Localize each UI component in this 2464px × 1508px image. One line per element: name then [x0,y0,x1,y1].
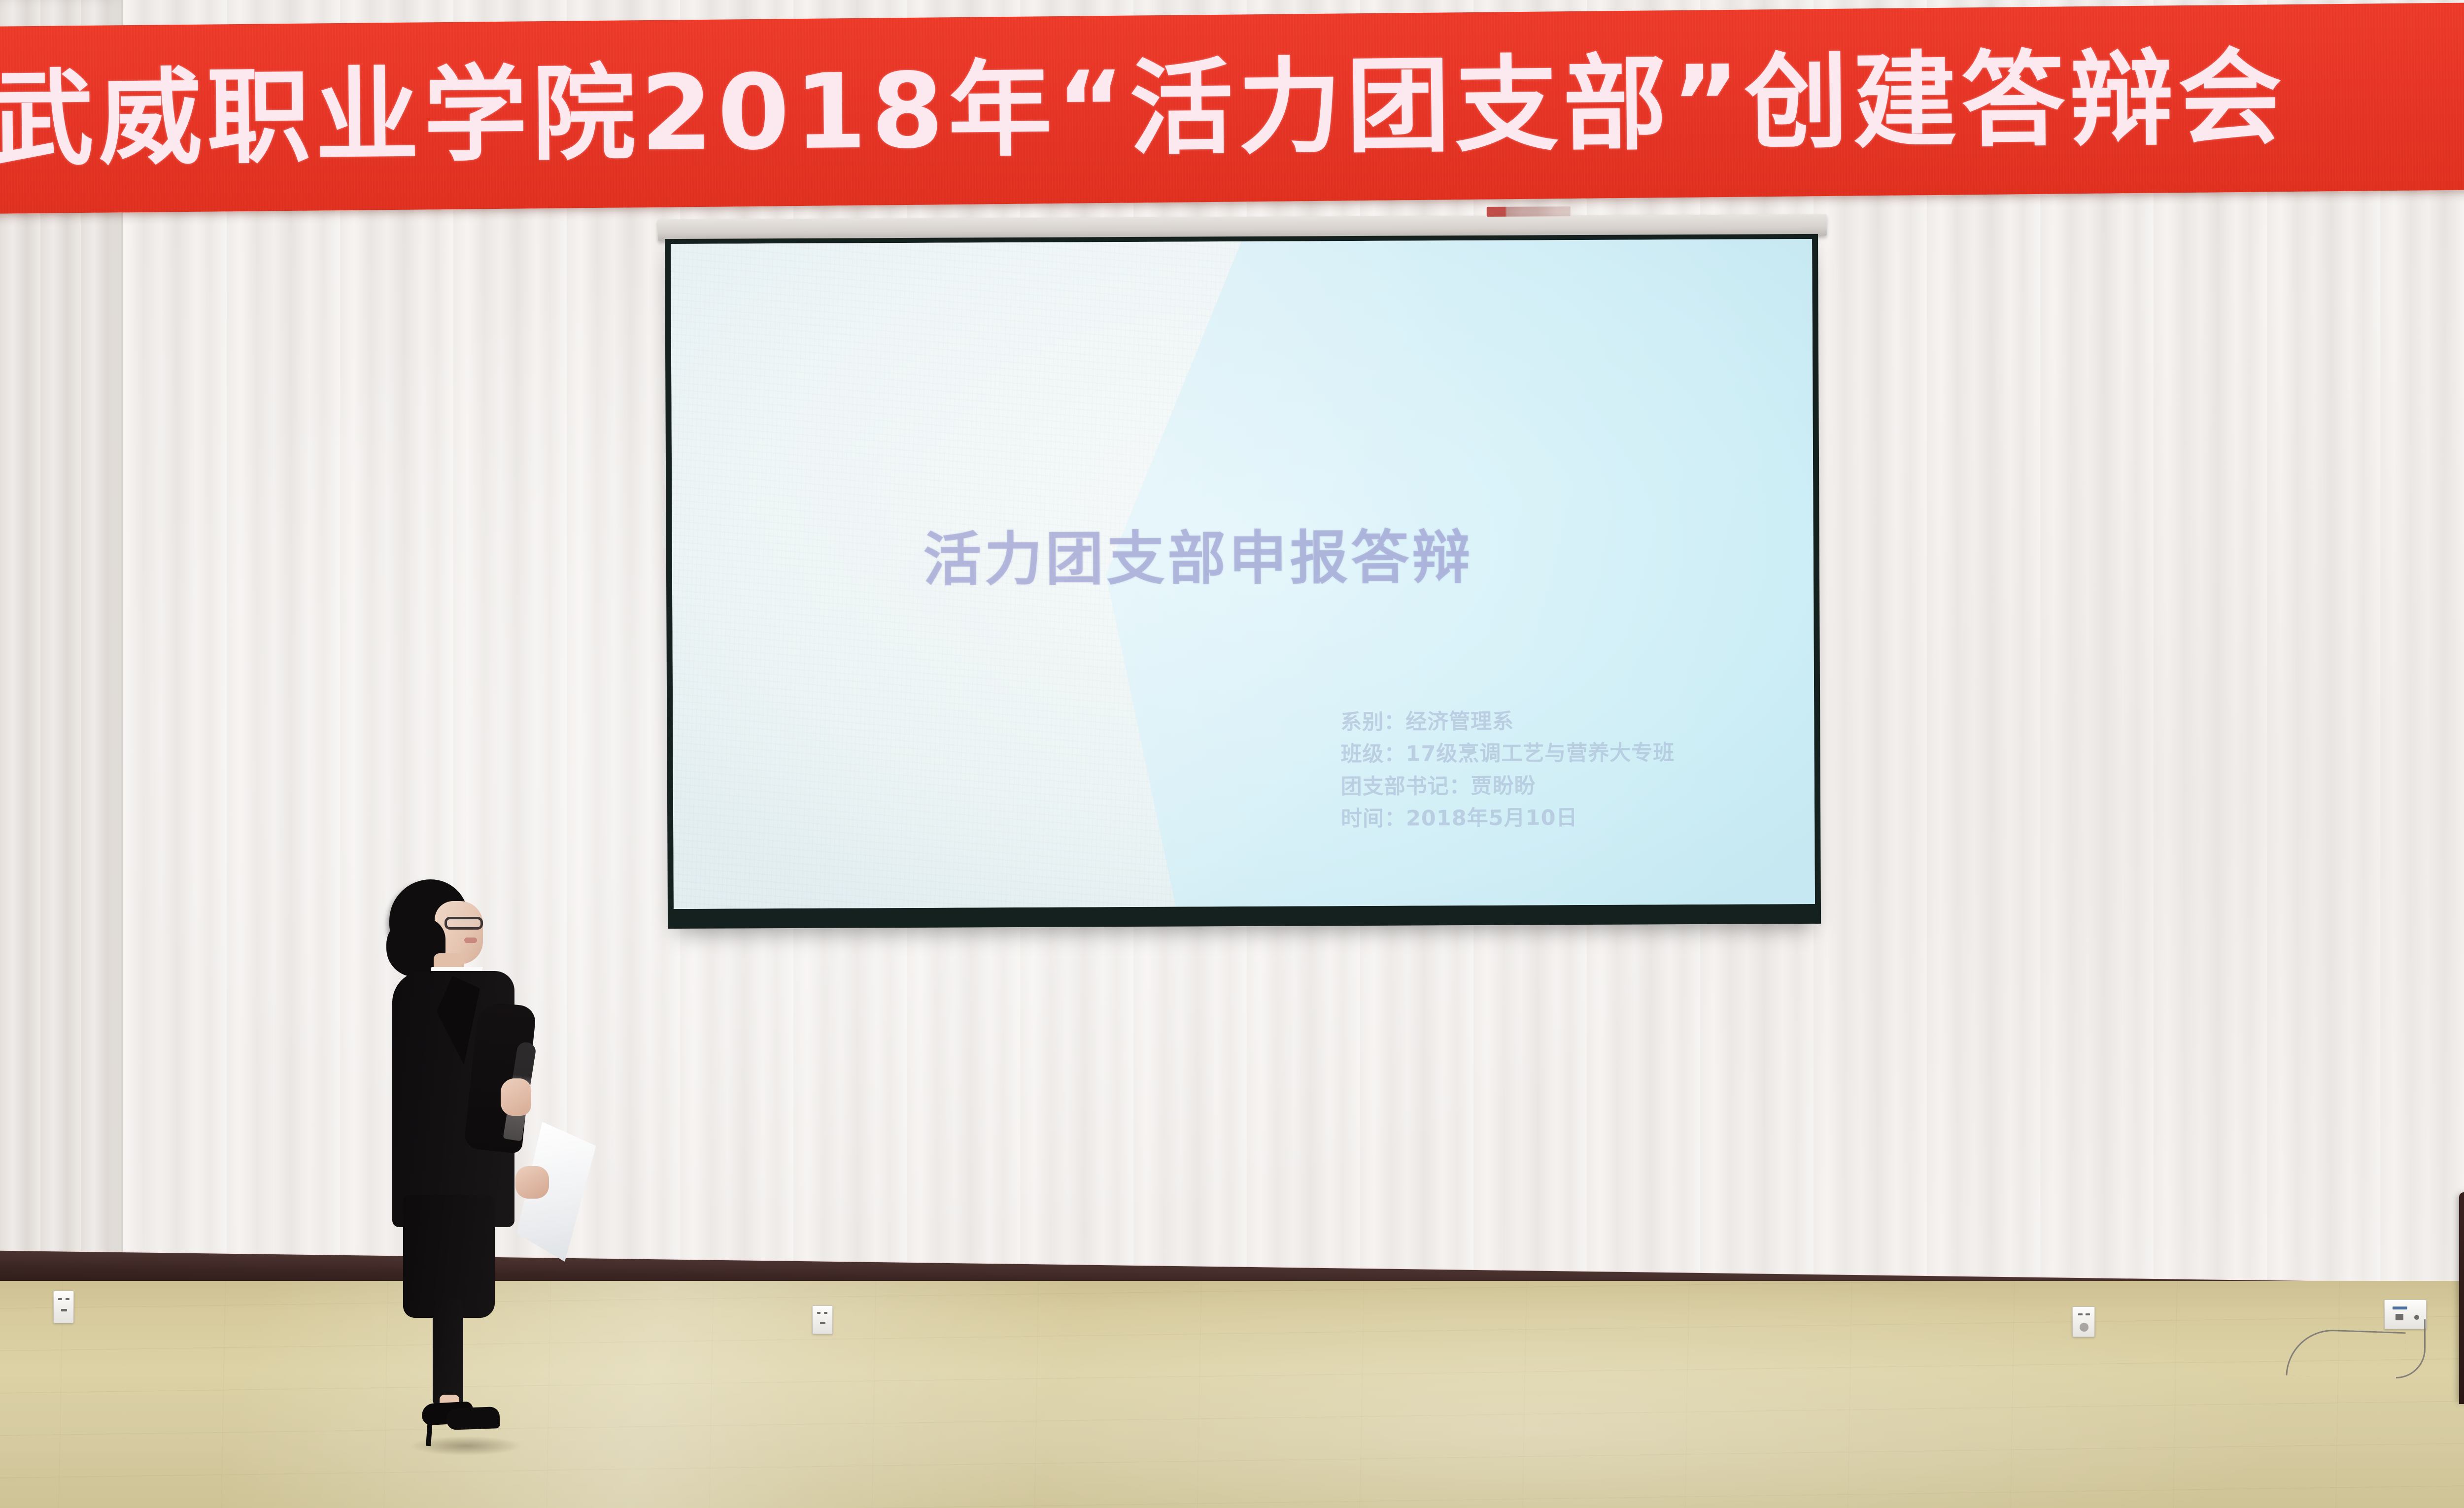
presenter-hand-paper [515,1166,549,1199]
slide-meta-date: 时间：2018年5月10日 [1341,801,1775,835]
event-banner: 武威职业学院2018年“活力团支部”创建答辩会 [0,2,2464,214]
auditorium-scene: 武威职业学院2018年“活力团支部”创建答辩会 活力团支部申报答辩 系别：经济管… [0,0,2464,1508]
wall-outlet-center [812,1306,833,1334]
brand-label-icon [1487,206,1571,217]
projector-screen: 活力团支部申报答辩 系别：经济管理系 班级：17级烹调工艺与营养大专班 团支部书… [665,214,1821,934]
presenter-figure [375,879,542,1426]
presenter-mouth [464,938,477,943]
screen-frame: 活力团支部申报答辩 系别：经济管理系 班级：17级烹调工艺与营养大专班 团支部书… [665,234,1821,929]
shoe-right [446,1407,500,1430]
wooden-chair [2459,1192,2464,1404]
projected-slide: 活力团支部申报答辩 系别：经济管理系 班级：17级烹调工艺与营养大专班 团支部书… [671,239,1815,909]
slide-meta-department: 系别：经济管理系 [1340,704,1774,738]
presenter-legs [433,1299,463,1407]
presenter-hand-mic [501,1078,531,1116]
slide-meta-block: 系别：经济管理系 班级：17级烹调工艺与营养大专班 团支部书记：贾盼盼 时间：2… [1340,704,1775,835]
wall-outlet-right [2072,1307,2095,1337]
wall-outlet-left [53,1291,74,1323]
glasses-icon [445,917,483,930]
banner-text: 武威职业学院2018年“活力团支部”创建答辩会 [0,2,2464,214]
slide-title: 活力团支部申报答辩 [923,510,1473,597]
slide-meta-secretary: 团支部书记：贾盼盼 [1341,769,1775,803]
slide-meta-class: 班级：17级烹调工艺与营养大专班 [1340,737,1774,771]
